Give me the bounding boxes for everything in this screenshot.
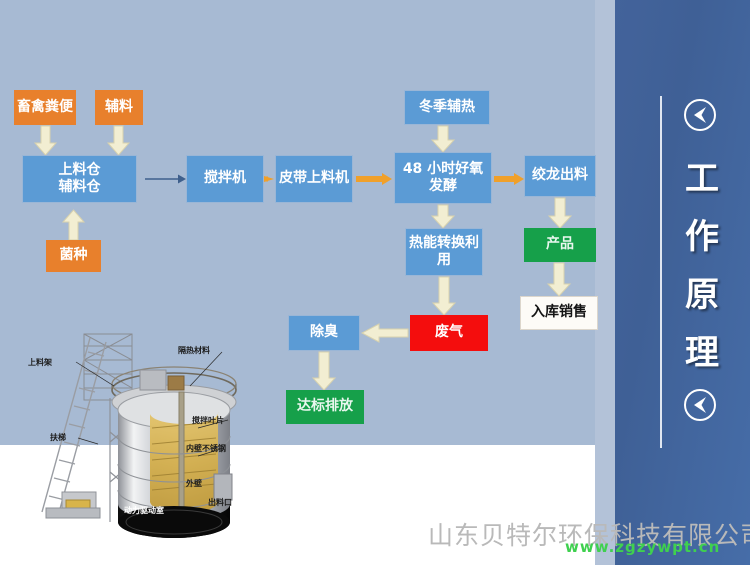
machine-label-text: 搅拌叶片	[192, 416, 224, 425]
machine-label-inner-steel: 内壁不锈钢	[186, 443, 226, 454]
flow-node-heat-recovery[interactable]: 热能转换利用	[405, 228, 483, 276]
machine-label-text: 外壁	[186, 479, 202, 488]
machine-label-text: 隔热材料	[178, 346, 210, 355]
flow-node-label: 畜禽粪便	[17, 99, 73, 116]
machine-label-insulation: 隔热材料	[178, 345, 210, 356]
arrow-mixer-to-belt	[264, 176, 274, 182]
flow-node-waste-gas[interactable]: 废气	[410, 315, 488, 351]
platform-motor	[168, 376, 184, 390]
ground-base	[46, 508, 100, 518]
arrow-manure-to-silo	[35, 126, 56, 155]
flow-node-label: 皮带上料机	[279, 170, 349, 187]
machine-label-power-room: 动力驱动室	[124, 505, 164, 516]
flow-node-label: 废气	[435, 324, 463, 341]
arrow-heatuse-to-wastegas	[433, 277, 455, 315]
flow-node-silo[interactable]: 上料仓 辅料仓	[22, 155, 137, 203]
sidebar-title-char: 作	[672, 208, 734, 266]
machine-label-outer-wall: 外壁	[186, 478, 202, 489]
slide-canvas: 工 作 原 理	[0, 0, 750, 565]
flow-node-mixer[interactable]: 搅拌机	[186, 155, 264, 203]
sidebar-divider-line	[660, 96, 662, 448]
arrow-silo-to-mixer	[145, 175, 186, 184]
flow-node-label: 除臭	[310, 324, 338, 341]
center-shaft	[179, 392, 184, 508]
flow-node-winter-heating[interactable]: 冬季辅热	[404, 90, 490, 125]
arrow-winterheat-to-ferment	[432, 126, 454, 152]
arrow-auger-to-product	[549, 198, 571, 228]
flow-node-compliant-emission[interactable]: 达标排放	[286, 390, 364, 424]
arrow-strain-to-silo	[63, 210, 84, 240]
machine-label-stair: 扶梯	[50, 432, 66, 443]
flow-node-label: 冬季辅热	[419, 99, 475, 116]
arrow-ferment-to-heatuse	[432, 205, 454, 228]
machine-label-text: 扶梯	[50, 433, 66, 442]
flow-node-auger-discharge[interactable]: 绞龙出料	[524, 155, 596, 197]
machine-label-feed-frame: 上料架	[28, 357, 52, 368]
flow-node-product[interactable]: 产品	[524, 228, 596, 262]
arrow-additive-to-silo	[108, 126, 129, 155]
arrow-deodor-to-emission	[313, 352, 335, 390]
flow-node-additive[interactable]: 辅料	[95, 90, 143, 125]
flow-node-strain[interactable]: 菌种	[46, 240, 101, 272]
flow-node-label: 产品	[546, 236, 574, 253]
machine-label-outlet: 出料口	[208, 497, 232, 508]
watermark-url: www.zgzywpt.cn	[565, 538, 720, 556]
arrow-product-to-warehouse	[548, 263, 570, 296]
flow-node-manure[interactable]: 畜禽粪便	[14, 90, 76, 125]
flow-node-fermentation[interactable]: 48 小时好氧发酵	[394, 152, 492, 204]
flow-node-label: 辅料	[105, 99, 133, 116]
flow-node-label: 上料仓 辅料仓	[59, 162, 101, 196]
circle-left-arrow-icon-bottom[interactable]	[681, 386, 719, 424]
flow-node-label: 搅拌机	[204, 170, 246, 187]
platform-box	[140, 370, 166, 390]
flow-node-warehouse-sales[interactable]: 入库销售	[520, 296, 598, 330]
sidebar-title-char: 理	[672, 324, 734, 382]
arrow-ferment-to-auger	[494, 173, 524, 185]
flow-node-label: 48 小时好氧发酵	[398, 161, 488, 195]
machine-label-text: 动力驱动室	[124, 506, 164, 515]
flow-node-label: 绞龙出料	[532, 167, 588, 184]
circle-left-arrow-icon-top[interactable]	[681, 96, 719, 134]
flow-node-label: 达标排放	[297, 398, 353, 415]
feed-scaffold	[84, 334, 132, 400]
sidebar-title-char: 原	[672, 266, 734, 324]
sidebar-title: 工 作 原 理	[672, 150, 734, 382]
machine-label-text: 上料架	[28, 358, 52, 367]
arrow-belt-to-ferment	[356, 173, 392, 185]
arrow-wastegas-to-deodor	[362, 324, 408, 342]
sidebar-title-char: 工	[672, 150, 734, 208]
flow-node-deodorization[interactable]: 除臭	[288, 315, 360, 351]
machine-label-text: 出料口	[208, 498, 232, 507]
flow-node-belt-feeder[interactable]: 皮带上料机	[275, 155, 353, 203]
flow-node-label: 菌种	[60, 247, 88, 264]
machine-label-blades: 搅拌叶片	[192, 415, 224, 426]
flow-node-label: 热能转换利用	[409, 235, 479, 269]
flow-node-label: 入库销售	[531, 304, 587, 321]
machine-label-text: 内壁不锈钢	[186, 444, 226, 453]
